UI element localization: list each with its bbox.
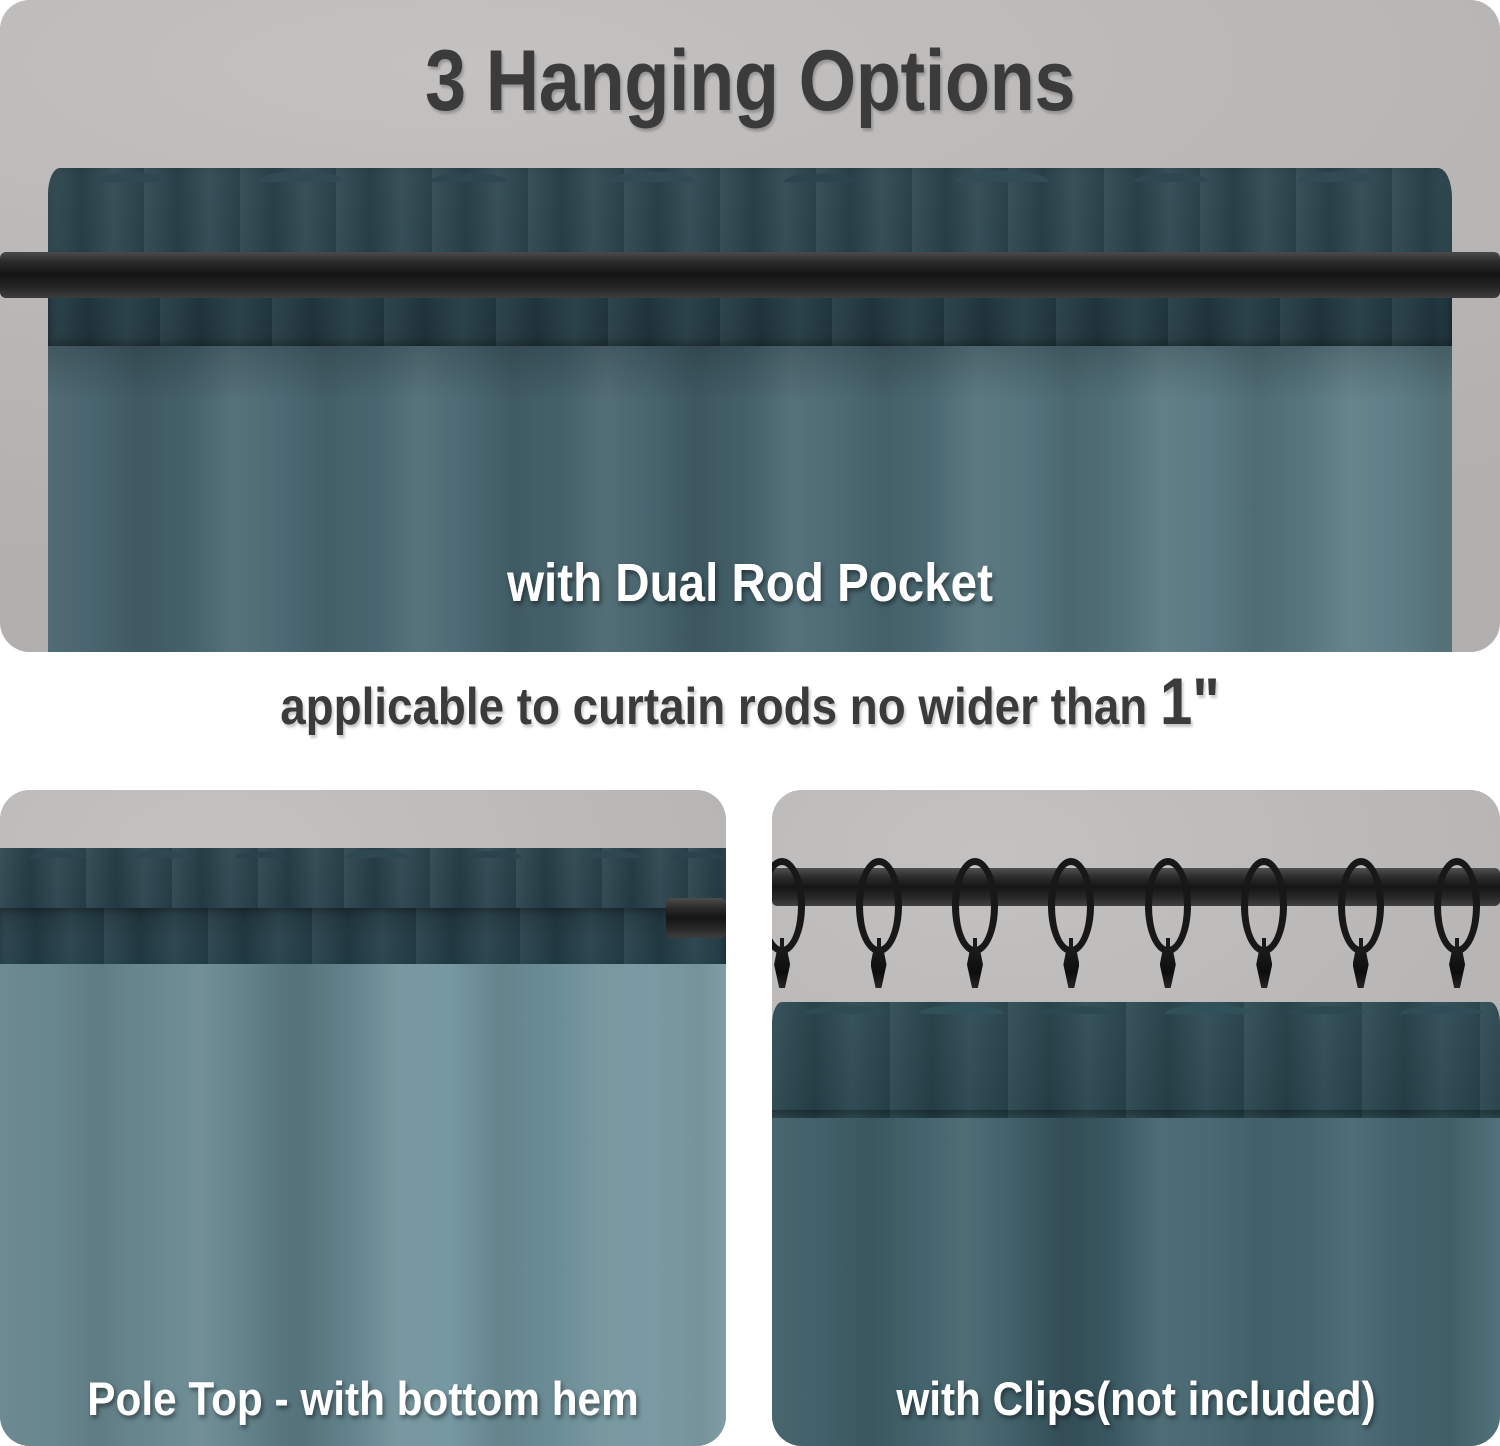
label-pole-top: Pole Top - with bottom hem	[36, 1375, 689, 1422]
caption-rod-width-text: applicable to curtain rods no wider than	[280, 678, 1160, 736]
curtain-clip-icon	[967, 950, 983, 988]
panel-clips: with Clips(not included)	[772, 790, 1500, 1446]
curtain-header-band	[772, 1002, 1500, 1120]
curtain-clip-icon	[1449, 950, 1465, 988]
caption-rod-width-measure: 1"	[1160, 664, 1220, 738]
rod-pocket-band	[0, 908, 726, 966]
label-clips: with Clips(not included)	[808, 1375, 1463, 1422]
infographic-page: 3 Hanging Options with Dual Rod Pocket a…	[0, 0, 1500, 1446]
curtain-clip-icon	[1160, 950, 1176, 988]
curtain-clip-icon	[871, 950, 887, 988]
curtain-rod	[0, 252, 1500, 298]
curtain-clip-icon	[1353, 950, 1369, 988]
curtain-pole-top	[0, 848, 726, 1446]
curtain-clip-icon	[1256, 950, 1272, 988]
curtain-rod	[666, 898, 726, 938]
curtain-clip-icon	[1063, 950, 1079, 988]
page-title: 3 Hanging Options	[105, 38, 1395, 124]
panel-dual-rod-pocket: 3 Hanging Options with Dual Rod Pocket	[0, 0, 1500, 652]
curtain-clip-icon	[774, 950, 790, 988]
caption-dual-rod-pocket: with Dual Rod Pocket	[90, 556, 1410, 610]
curtain-ring-icon	[772, 858, 805, 954]
panel-pole-top: Pole Top - with bottom hem	[0, 790, 726, 1446]
curtain-header-seam	[772, 1110, 1500, 1118]
caption-rod-width-limit: applicable to curtain rods no wider than…	[90, 668, 1410, 734]
